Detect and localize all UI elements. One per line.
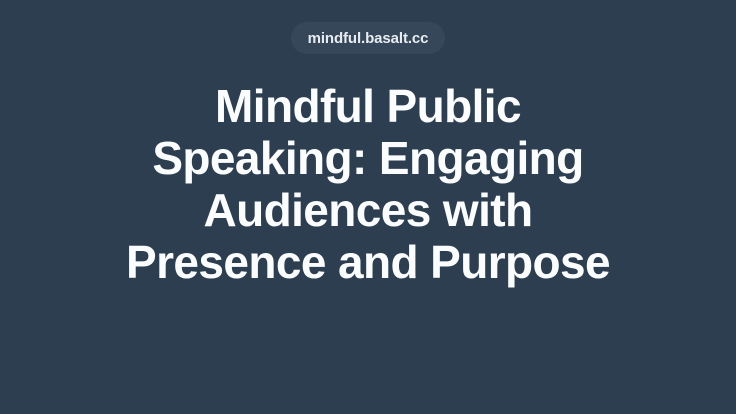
page-title-line: Presence and Purpose bbox=[58, 236, 678, 288]
page-title-line: Mindful Public bbox=[58, 80, 678, 132]
site-domain-badge: mindful.basalt.cc bbox=[291, 22, 446, 54]
badge-row: mindful.basalt.cc bbox=[0, 22, 736, 54]
page-title: Mindful Public Speaking: Engaging Audien… bbox=[58, 80, 678, 288]
page-title-line: Speaking: Engaging bbox=[58, 132, 678, 184]
page-title-line: Audiences with bbox=[58, 184, 678, 236]
social-share-card: mindful.basalt.cc Mindful Public Speakin… bbox=[0, 0, 736, 414]
